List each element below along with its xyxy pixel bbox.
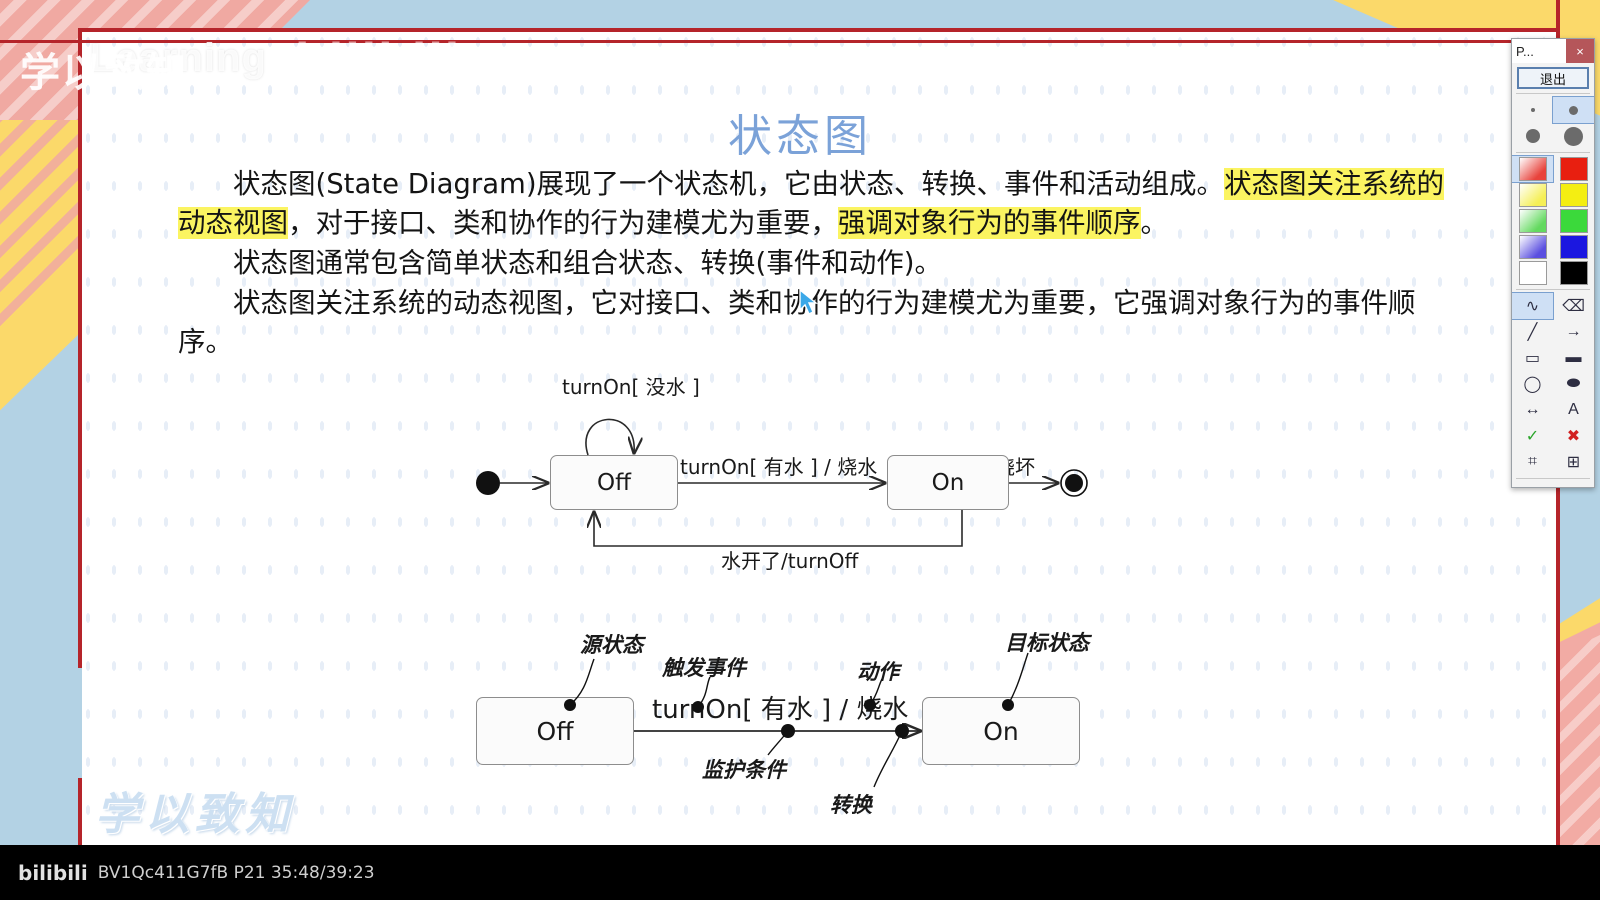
divider [1516,93,1590,94]
page-title: 状态图 [0,100,1600,164]
pen-icon: ∿ [1526,296,1539,316]
color-red-gradient-swatch [1519,157,1547,181]
remove-icon: ▬ [1566,486,1582,488]
slide-canvas: bilibili Learning 学以致知 学以致知 状态图 状态图(Stat… [0,0,1600,845]
color-green-grad[interactable] [1512,208,1553,234]
d1-initial-state-marker [476,471,500,495]
color-swatch-group[interactable] [1512,156,1594,286]
divider [1516,478,1590,479]
watermark-chinese-bottom: 学以致知 [95,778,295,842]
color-white[interactable] [1512,260,1553,286]
color-green-grad-swatch [1519,209,1547,233]
pen-size-group[interactable] [1512,97,1594,149]
text-run: 状态图(State Diagram)展现了一个状态机，它由状态、转换、事件和活动… [233,168,1224,200]
state-diagram-transition-anatomy: 源状态 触发事件 动作 目标状态 监护条件 转换 turnOn[ 有水 ] / … [462,615,1112,830]
arrow-tool[interactable]: → [1553,319,1594,345]
highlighted-text: 强调对象行为的事件顺序 [838,207,1141,239]
frame-line-left-lower [78,778,82,845]
pen-size-large-dot [1564,127,1583,146]
color-green-swatch [1560,209,1588,233]
screen: bilibili Learning 学以致知 学以致知 状态图 状态图(Stat… [0,0,1600,900]
state-diagram-kettle: turnOn[ 没水 ] turnOn[ 有水 ] / 烧水 水开了/turnO… [462,365,1102,575]
filled-rectangle-tool[interactable]: ▬ [1553,345,1594,371]
remove-tool[interactable]: ▬ [1553,482,1594,488]
eraser-tool[interactable]: ⌫ [1553,293,1594,319]
confirm-icon: ✓ [1526,426,1539,446]
line-tool[interactable]: ╱ [1512,319,1553,345]
pen-size-medium-dot [1526,129,1540,143]
video-player-bar: bilibili BV1Qc411G7fB P21 35:48/39:23 [0,845,1600,900]
color-red-gradient[interactable] [1512,156,1553,182]
annotation-tool-panel[interactable]: P... × 退出 ∿⌫╱→▭▬◯⬬↔A✓✖⌗⊞✛▬↶🗑🗋⧉🖶💾🖼ⓘ [1511,38,1595,488]
d1-final-state-inner [1065,474,1083,492]
text-run: 状态图通常包含简单状态和组合状态、转换(事件和动作)。 [233,247,942,279]
divider [1516,152,1590,153]
color-green[interactable] [1553,208,1594,234]
mouse-cursor [798,288,820,318]
text-run: 状态图关注系统的动态视图，它对接口、类和协作的行为建模尤为重要，它强调对象行为的… [178,287,1416,358]
text-tool[interactable]: A [1553,397,1594,423]
color-blue-grad[interactable] [1512,234,1553,260]
slide-body-text: 状态图(State Diagram)展现了一个状态机，它由状态、转换、事件和活动… [178,165,1468,363]
add-tool[interactable]: ✛ [1512,482,1553,488]
color-yellow-swatch [1560,183,1588,207]
confirm-tool[interactable]: ✓ [1512,423,1553,449]
color-white-swatch [1519,261,1547,285]
color-blue-grad-swatch [1519,235,1547,259]
pen-size-small[interactable] [1553,97,1594,123]
ellipse-icon: ◯ [1524,374,1542,394]
pen-size-tiny[interactable] [1512,97,1553,123]
cancel-tool[interactable]: ✖ [1553,423,1594,449]
ellipse-tool[interactable]: ◯ [1512,371,1553,397]
rectangle-tool[interactable]: ▭ [1512,345,1553,371]
watermark-bilibili: bilibili [295,32,461,92]
close-icon[interactable]: × [1566,39,1594,63]
tool-panel-title: P... [1516,44,1534,59]
pen-size-medium[interactable] [1512,123,1553,149]
eraser-icon: ⌫ [1562,296,1585,316]
zoom-icon: ⊞ [1567,452,1580,472]
rectangle-icon: ▭ [1525,348,1540,368]
paragraph-2: 状态图通常包含简单状态和组合状态、转换(事件和动作)。 [178,244,1468,283]
filled-rectangle-icon: ▬ [1566,349,1582,367]
line-icon: ╱ [1528,322,1538,342]
watermark-chinese-top: 学以致知 [20,40,188,98]
paragraph-3: 状态图关注系统的动态视图，它对接口、类和协作的行为建模尤为重要，它强调对象行为的… [178,284,1468,362]
d2-connectors [462,615,1112,830]
double-arrow-icon: ↔ [1525,401,1541,419]
color-black-swatch [1560,261,1588,285]
text-run: ，对于接口、类和协作的行为建模尤为重要， [288,207,838,239]
color-red-swatch [1560,157,1588,181]
text-icon: A [1568,401,1579,419]
drawing-tool-group[interactable]: ∿⌫╱→▭▬◯⬬↔A✓✖⌗⊞✛▬↶🗑🗋⧉🖶💾🖼ⓘ [1512,293,1594,488]
zoom-tool[interactable]: ⊞ [1553,449,1594,475]
color-yellow-grad[interactable] [1512,182,1553,208]
crop-tool[interactable]: ⌗ [1512,449,1553,475]
filled-ellipse-tool[interactable]: ⬬ [1553,371,1594,397]
video-info-text: BV1Qc411G7fB P21 35:48/39:23 [98,863,375,883]
add-icon: ✛ [1526,485,1539,488]
pen-tool[interactable]: ∿ [1512,293,1553,319]
text-run: 。 [1141,207,1169,239]
arrow-icon: → [1566,323,1582,341]
color-blue-swatch [1560,235,1588,259]
paragraph-1: 状态图(State Diagram)展现了一个状态机，它由状态、转换、事件和活动… [178,165,1468,243]
color-black[interactable] [1553,260,1594,286]
cancel-icon: ✖ [1567,426,1580,446]
filled-ellipse-icon: ⬬ [1567,375,1581,393]
color-blue[interactable] [1553,234,1594,260]
double-arrow-tool[interactable]: ↔ [1512,397,1553,423]
color-red[interactable] [1553,156,1594,182]
tool-panel-titlebar[interactable]: P... × [1512,39,1594,63]
pen-size-tiny-dot [1531,108,1535,112]
bilibili-logo: bilibili [18,861,88,885]
pen-size-large[interactable] [1553,123,1594,149]
color-yellow[interactable] [1553,182,1594,208]
d1-connectors [462,365,1102,575]
exit-button[interactable]: 退出 [1517,67,1589,89]
color-yellow-grad-swatch [1519,183,1547,207]
crop-icon: ⌗ [1528,453,1537,471]
pen-size-small-dot [1569,106,1578,115]
divider [1516,289,1590,290]
